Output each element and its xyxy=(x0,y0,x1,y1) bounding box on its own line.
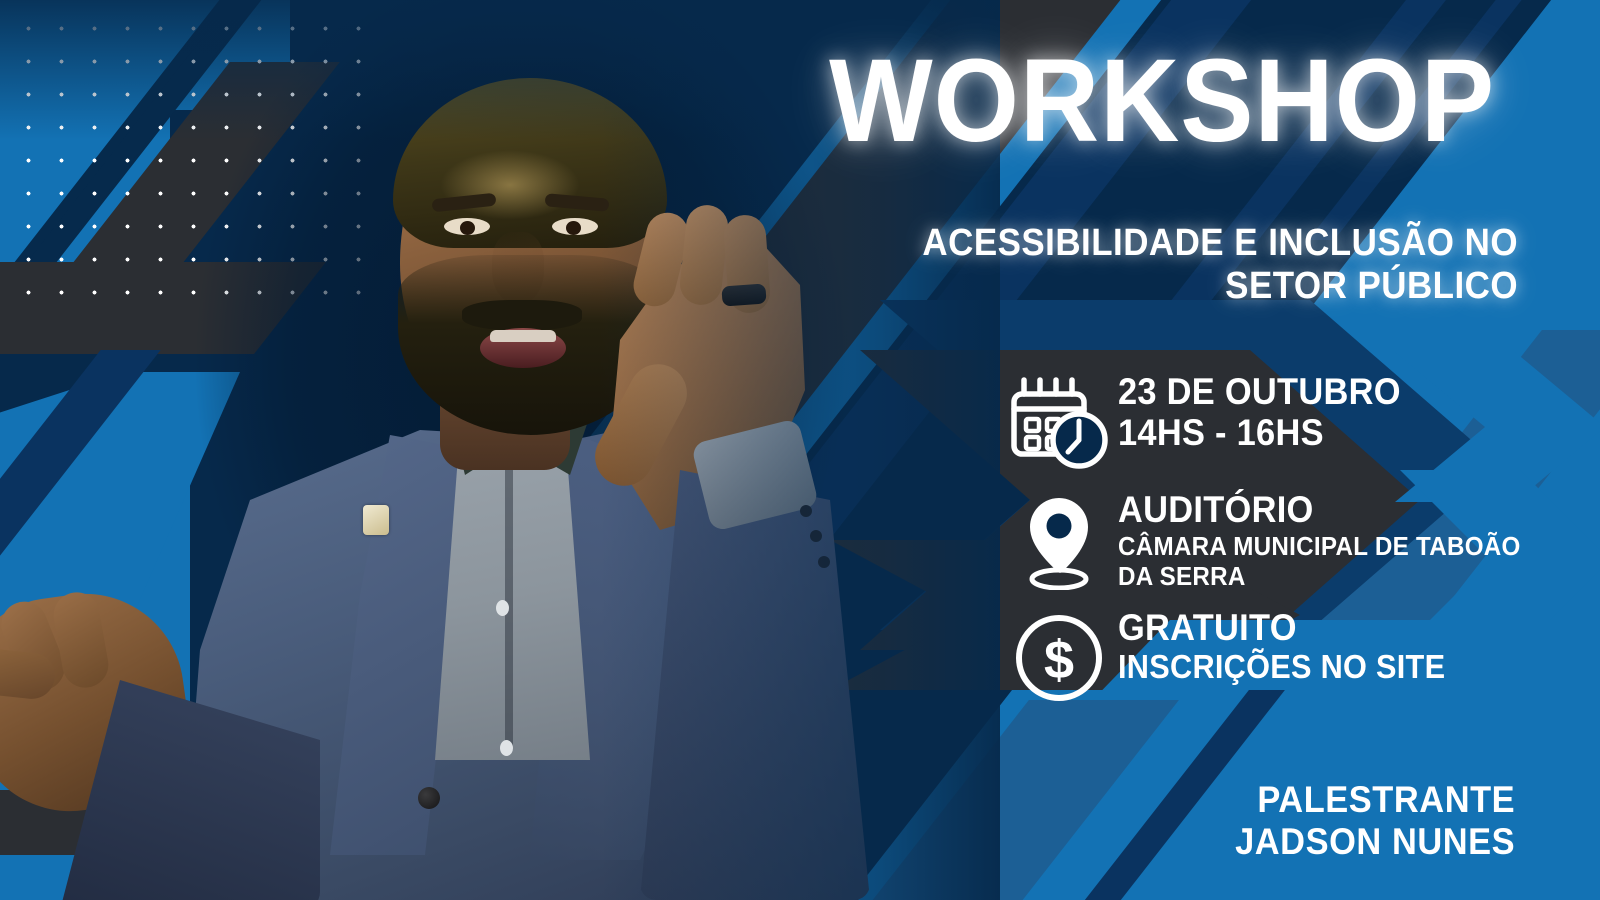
venue-name: AUDITÓRIO xyxy=(1118,490,1566,531)
dollar-circle-icon: $ xyxy=(1000,608,1118,704)
event-details: 23 DE OUTUBRO 14HS - 16HS AUDITÓRIO CÂMA… xyxy=(1000,372,1600,704)
date-time-text: 23 DE OUTUBRO 14HS - 16HS xyxy=(1118,372,1600,453)
venue-address-line-1: CÂMARA MUNICIPAL DE TABOÃO xyxy=(1118,531,1566,562)
lapel-pin xyxy=(363,505,389,535)
registration-label: INSCRIÇÕES NO SITE xyxy=(1118,649,1566,685)
subtitle-line-2: SETOR PÚBLICO xyxy=(892,265,1518,308)
finger-ring xyxy=(721,283,766,306)
svg-text:$: $ xyxy=(1044,630,1074,690)
price-text: GRATUITO INSCRIÇÕES NO SITE xyxy=(1118,608,1600,685)
location-text: AUDITÓRIO CÂMARA MUNICIPAL DE TABOÃO DA … xyxy=(1118,490,1600,592)
shirt-button xyxy=(496,600,509,616)
detail-row-price: $ GRATUITO INSCRIÇÕES NO SITE xyxy=(1000,608,1600,704)
event-time: 14HS - 16HS xyxy=(1118,413,1566,454)
eye-left-pupil xyxy=(460,221,475,235)
detail-row-date: 23 DE OUTUBRO 14HS - 16HS xyxy=(1000,372,1600,472)
page-title: WORKSHOP xyxy=(829,42,1495,160)
price-label: GRATUITO xyxy=(1118,608,1566,649)
workshop-poster: WORKSHOP ACESSIBILIDADE E INCLUSÃO NO SE… xyxy=(0,0,1600,900)
teeth xyxy=(490,330,556,342)
speaker-name: JADSON NUNES xyxy=(1235,821,1515,862)
detail-row-location: AUDITÓRIO CÂMARA MUNICIPAL DE TABOÃO DA … xyxy=(1000,490,1600,592)
speaker-label: PALESTRANTE xyxy=(1235,779,1515,820)
subtitle-line-1: ACESSIBILIDADE E INCLUSÃO NO xyxy=(892,222,1518,265)
shirt-placket xyxy=(505,440,513,750)
poster-subtitle: ACESSIBILIDADE E INCLUSÃO NO SETOR PÚBLI… xyxy=(892,222,1518,307)
jacket-button xyxy=(418,787,440,809)
mustache xyxy=(462,300,582,330)
speaker-block: PALESTRANTE JADSON NUNES xyxy=(1235,779,1515,862)
eye-right-pupil xyxy=(566,221,581,235)
event-date: 23 DE OUTUBRO xyxy=(1118,372,1566,413)
map-pin-icon xyxy=(1000,490,1118,590)
poster-content: WORKSHOP ACESSIBILIDADE E INCLUSÃO NO SE… xyxy=(800,0,1600,900)
shirt-button xyxy=(500,740,513,756)
face-highlight xyxy=(440,150,580,220)
calendar-clock-icon xyxy=(1000,372,1118,472)
venue-address-line-2: DA SERRA xyxy=(1118,561,1566,592)
